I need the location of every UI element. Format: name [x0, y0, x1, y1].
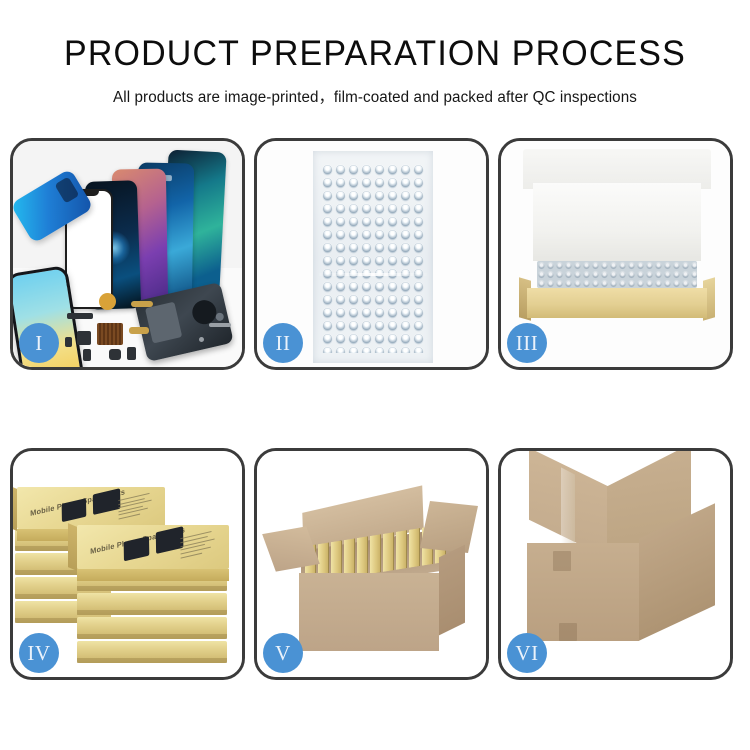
bubble-texture [321, 163, 425, 353]
artwork-screen [156, 526, 184, 553]
retail-box-edge [77, 569, 229, 581]
carton-right-face [439, 545, 465, 636]
step-badge-6: VI [507, 633, 547, 673]
carton-right-flap [420, 501, 478, 553]
retail-box-slab [77, 617, 227, 639]
step-panel-5: V [254, 448, 489, 680]
page-subtitle: All products are image-printed，film-coat… [8, 85, 743, 107]
part-connector-icon [67, 313, 93, 319]
kraft-box-front-face [527, 288, 707, 318]
part-speaker-icon [99, 293, 116, 310]
foam-sheet-icon [533, 183, 701, 261]
header: PRODUCT PREPARATION PROCESS All products… [0, 0, 750, 107]
part-camera-icon [77, 331, 91, 345]
part-taptic-icon [109, 349, 121, 360]
step-panel-1: I [10, 138, 245, 370]
part-vibrator-icon [65, 337, 72, 347]
step-1-image: I [13, 141, 242, 367]
packed-retail-box [409, 528, 420, 568]
packed-retail-box [370, 534, 381, 574]
part-flex-cable-icon [131, 301, 153, 307]
step-badge-1: I [19, 323, 59, 363]
step-3-image: III [501, 141, 730, 367]
part-sim-tray-icon [127, 347, 136, 360]
step-badge-3: III [507, 323, 547, 363]
page-title: PRODUCT PREPARATION PROCESS [11, 36, 739, 73]
part-screw-icon [199, 337, 204, 342]
part-chip-icon [97, 323, 123, 345]
packed-retail-box [383, 532, 394, 572]
carton-front-face [299, 573, 439, 651]
packed-retail-box [396, 530, 407, 570]
artwork-screen [93, 488, 120, 514]
bubble-wrap-insert-icon [537, 261, 697, 288]
sealed-carton-front-face [527, 543, 639, 641]
step-panel-4: Mobile Phone Spare Parts [10, 448, 245, 680]
part-bracket-icon [83, 349, 91, 361]
step-2-image: II [257, 141, 486, 367]
part-button-flex-icon [129, 327, 149, 334]
retail-box-slab [77, 593, 227, 615]
retail-box-side-face [13, 485, 17, 531]
part-tool-icon [209, 323, 231, 327]
step-badge-4: IV [19, 633, 59, 673]
step-panel-3: III [498, 138, 733, 370]
retail-box-printed: Mobile Phone Spare Parts [77, 525, 229, 569]
artwork-screen [62, 497, 87, 522]
steps-grid: I II III [10, 138, 743, 680]
step-4-image: Mobile Phone Spare Parts [13, 451, 242, 677]
step-panel-2: II [254, 138, 489, 370]
retail-box-slab [77, 641, 227, 663]
packed-retail-box [357, 536, 368, 576]
step-5-image: V [257, 451, 486, 677]
step-6-image: VI [501, 451, 730, 677]
retail-box-printed: Mobile Phone Spare Parts [17, 487, 165, 529]
step-badge-5: V [263, 633, 303, 673]
bubble-wrap-pouch-icon [313, 151, 433, 363]
carton-hand-hole [559, 623, 577, 641]
step-badge-2: II [263, 323, 303, 363]
retail-box-side-face [68, 523, 77, 571]
step-panel-6: VI [498, 448, 733, 680]
artwork-screen [123, 536, 148, 562]
carton-hand-hole [553, 551, 571, 571]
product-preparation-infographic: PRODUCT PREPARATION PROCESS All products… [0, 0, 750, 750]
pouch-seam [319, 273, 427, 276]
